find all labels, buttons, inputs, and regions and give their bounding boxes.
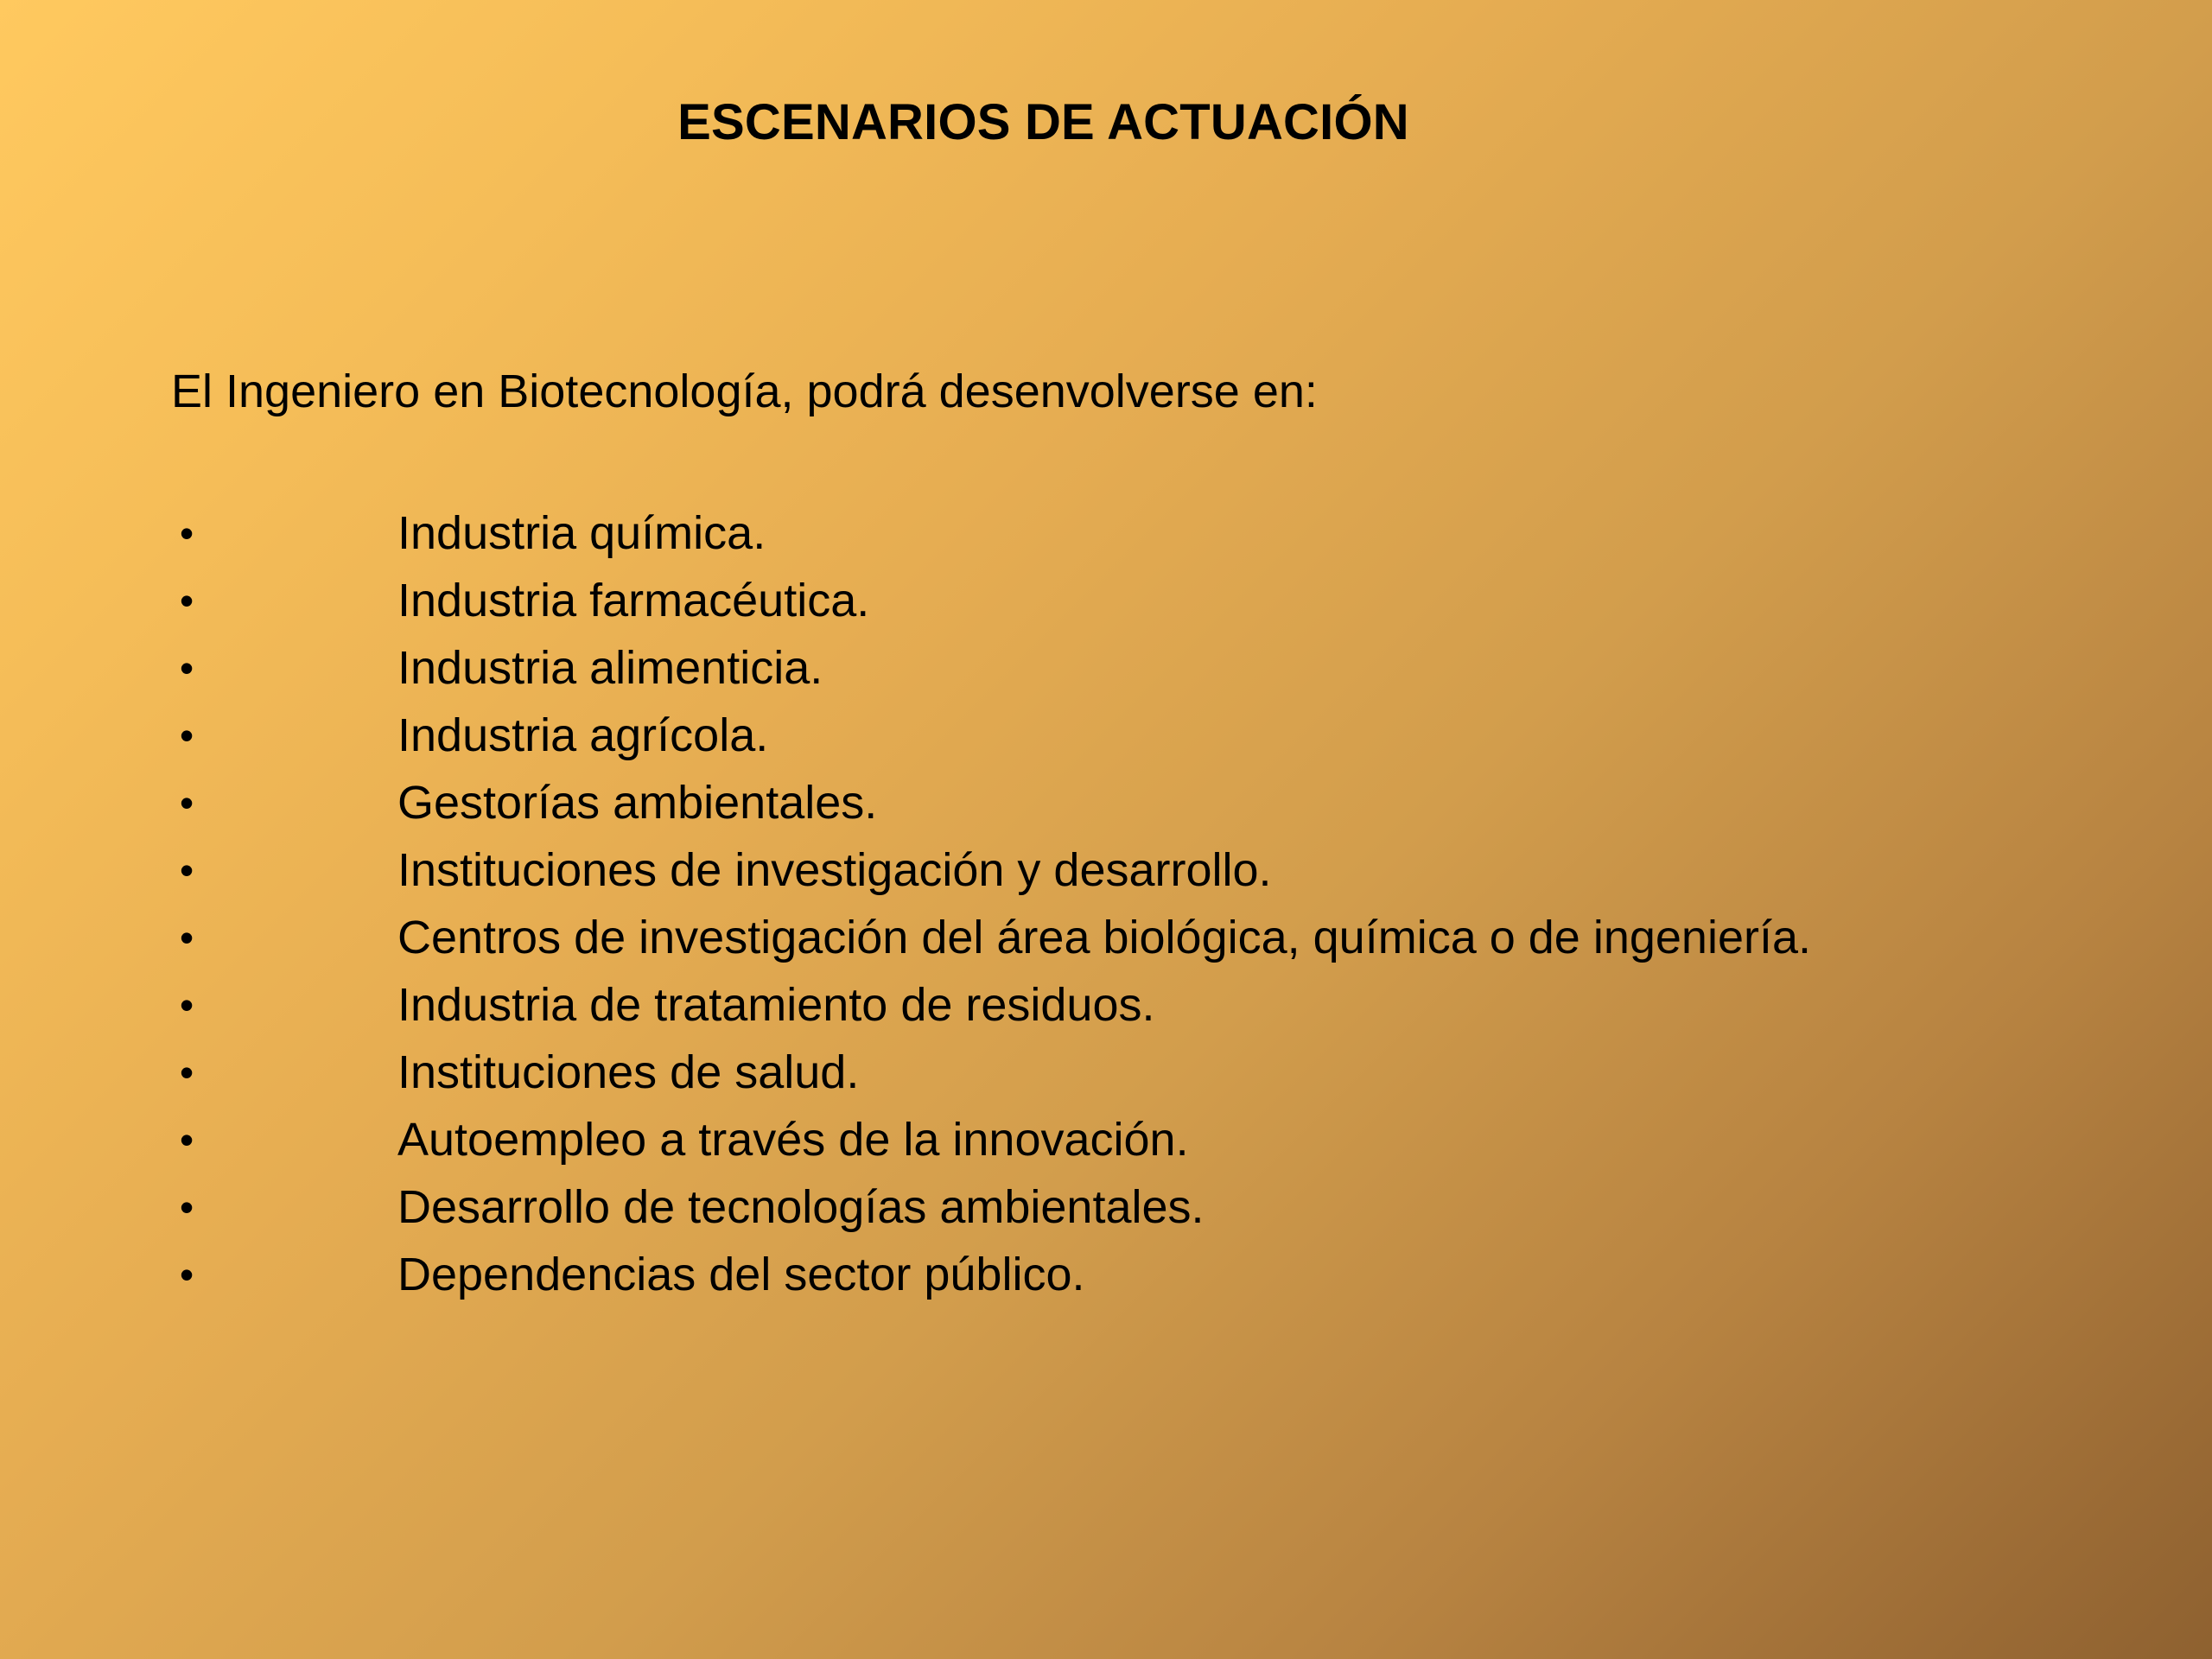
list-item: •Industria agrícola. [171, 702, 2124, 769]
list-item: •Industria farmacéutica. [171, 567, 2124, 634]
list-item-label: Instituciones de salud. [397, 1039, 859, 1106]
list-item-label: Industria agrícola. [397, 702, 768, 769]
bullet-list: •Industria química.•Industria farmacéuti… [171, 499, 2124, 1308]
intro-paragraph: El Ingeniero en Biotecnología, podrá des… [171, 365, 1318, 418]
list-item-label: Dependencias del sector público. [397, 1241, 1085, 1308]
list-item-label: Industria química. [397, 499, 766, 567]
list-item-label: Industria farmacéutica. [397, 567, 869, 634]
list-item: •Centros de investigación del área bioló… [171, 904, 2124, 971]
list-item: •Industria de tratamiento de residuos. [171, 971, 2124, 1039]
page-title: ESCENARIOS DE ACTUACIÓN [0, 93, 2087, 151]
list-item-label: Industria alimenticia. [397, 634, 823, 702]
bullet-dot-icon: • [180, 971, 214, 1039]
list-item: •Industria alimenticia. [171, 634, 2124, 702]
list-item: •Gestorías ambientales. [171, 769, 2124, 836]
bullet-dot-icon: • [180, 634, 214, 702]
list-item: •Autoempleo a través de la innovación. [171, 1106, 2124, 1173]
list-item-label: Instituciones de investigación y desarro… [397, 836, 1272, 904]
list-item-label: Industria de tratamiento de residuos. [397, 971, 1155, 1039]
list-item-label: Desarrollo de tecnologías ambientales. [397, 1173, 1205, 1241]
bullet-dot-icon: • [180, 499, 214, 567]
list-item: •Dependencias del sector público. [171, 1241, 2124, 1308]
bullet-dot-icon: • [180, 1241, 214, 1308]
list-item-label: Gestorías ambientales. [397, 769, 877, 836]
bullet-dot-icon: • [180, 1173, 214, 1241]
list-item: •Instituciones de salud. [171, 1039, 2124, 1106]
list-item: •Desarrollo de tecnologías ambientales. [171, 1173, 2124, 1241]
bullet-dot-icon: • [180, 1106, 214, 1173]
bullet-dot-icon: • [180, 567, 214, 634]
bullet-dot-icon: • [180, 904, 214, 971]
list-item-label: Autoempleo a través de la innovación. [397, 1106, 1189, 1173]
bullet-dot-icon: • [180, 702, 214, 769]
bullet-dot-icon: • [180, 769, 214, 836]
bullet-dot-icon: • [180, 1039, 214, 1106]
list-item-label: Centros de investigación del área biológ… [397, 904, 1811, 971]
bullet-dot-icon: • [180, 836, 214, 904]
list-item: •Industria química. [171, 499, 2124, 567]
list-item: •Instituciones de investigación y desarr… [171, 836, 2124, 904]
slide-canvas: ESCENARIOS DE ACTUACIÓN El Ingeniero en … [0, 0, 2212, 1659]
